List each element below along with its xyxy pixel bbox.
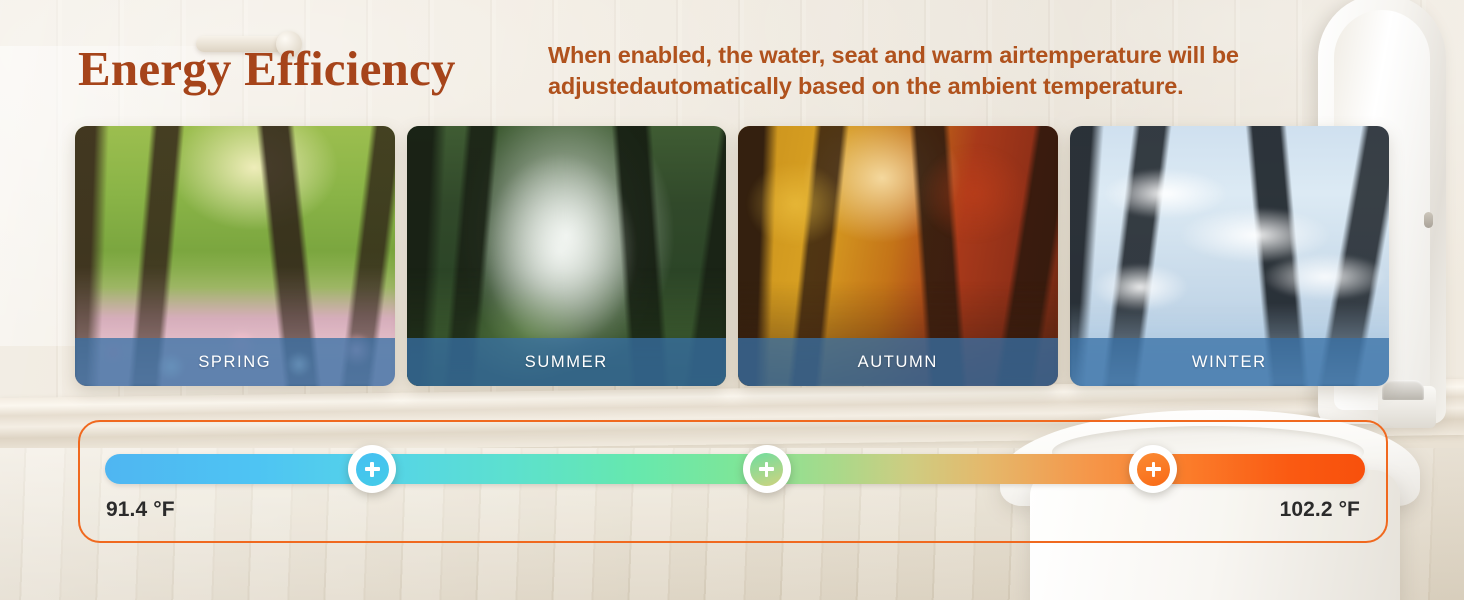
season-label-spring: SPRING [75, 338, 395, 386]
plus-icon [750, 453, 783, 486]
season-card-list: SPRING SUMMER AUTUMN WINTER [75, 126, 1389, 386]
slider-thumb-medium[interactable] [743, 445, 791, 493]
slider-thumb-warm[interactable] [1129, 445, 1177, 493]
season-label-summer: SUMMER [407, 338, 727, 386]
season-card-winter[interactable]: WINTER [1070, 126, 1390, 386]
temperature-slider-panel: 91.4 °F 102.2 °F [78, 420, 1388, 543]
slider-thumb-cold[interactable] [348, 445, 396, 493]
season-card-spring[interactable]: SPRING [75, 126, 395, 386]
toilet-lid-screw-icon [1424, 212, 1433, 228]
season-card-autumn[interactable]: AUTUMN [738, 126, 1058, 386]
page-subtitle: When enabled, the water, seat and warm a… [548, 40, 1378, 101]
temperature-slider[interactable] [105, 454, 1365, 484]
season-card-summer[interactable]: SUMMER [407, 126, 727, 386]
season-label-winter: WINTER [1070, 338, 1390, 386]
temperature-max-label: 102.2 °F [1280, 498, 1360, 522]
plus-icon [356, 453, 389, 486]
plus-icon [1137, 453, 1170, 486]
season-label-autumn: AUTUMN [738, 338, 1058, 386]
energy-efficiency-banner: Energy Efficiency When enabled, the wate… [0, 0, 1464, 600]
temperature-min-label: 91.4 °F [106, 498, 175, 522]
toilet-hinge [1378, 386, 1436, 428]
page-title: Energy Efficiency [78, 40, 456, 97]
